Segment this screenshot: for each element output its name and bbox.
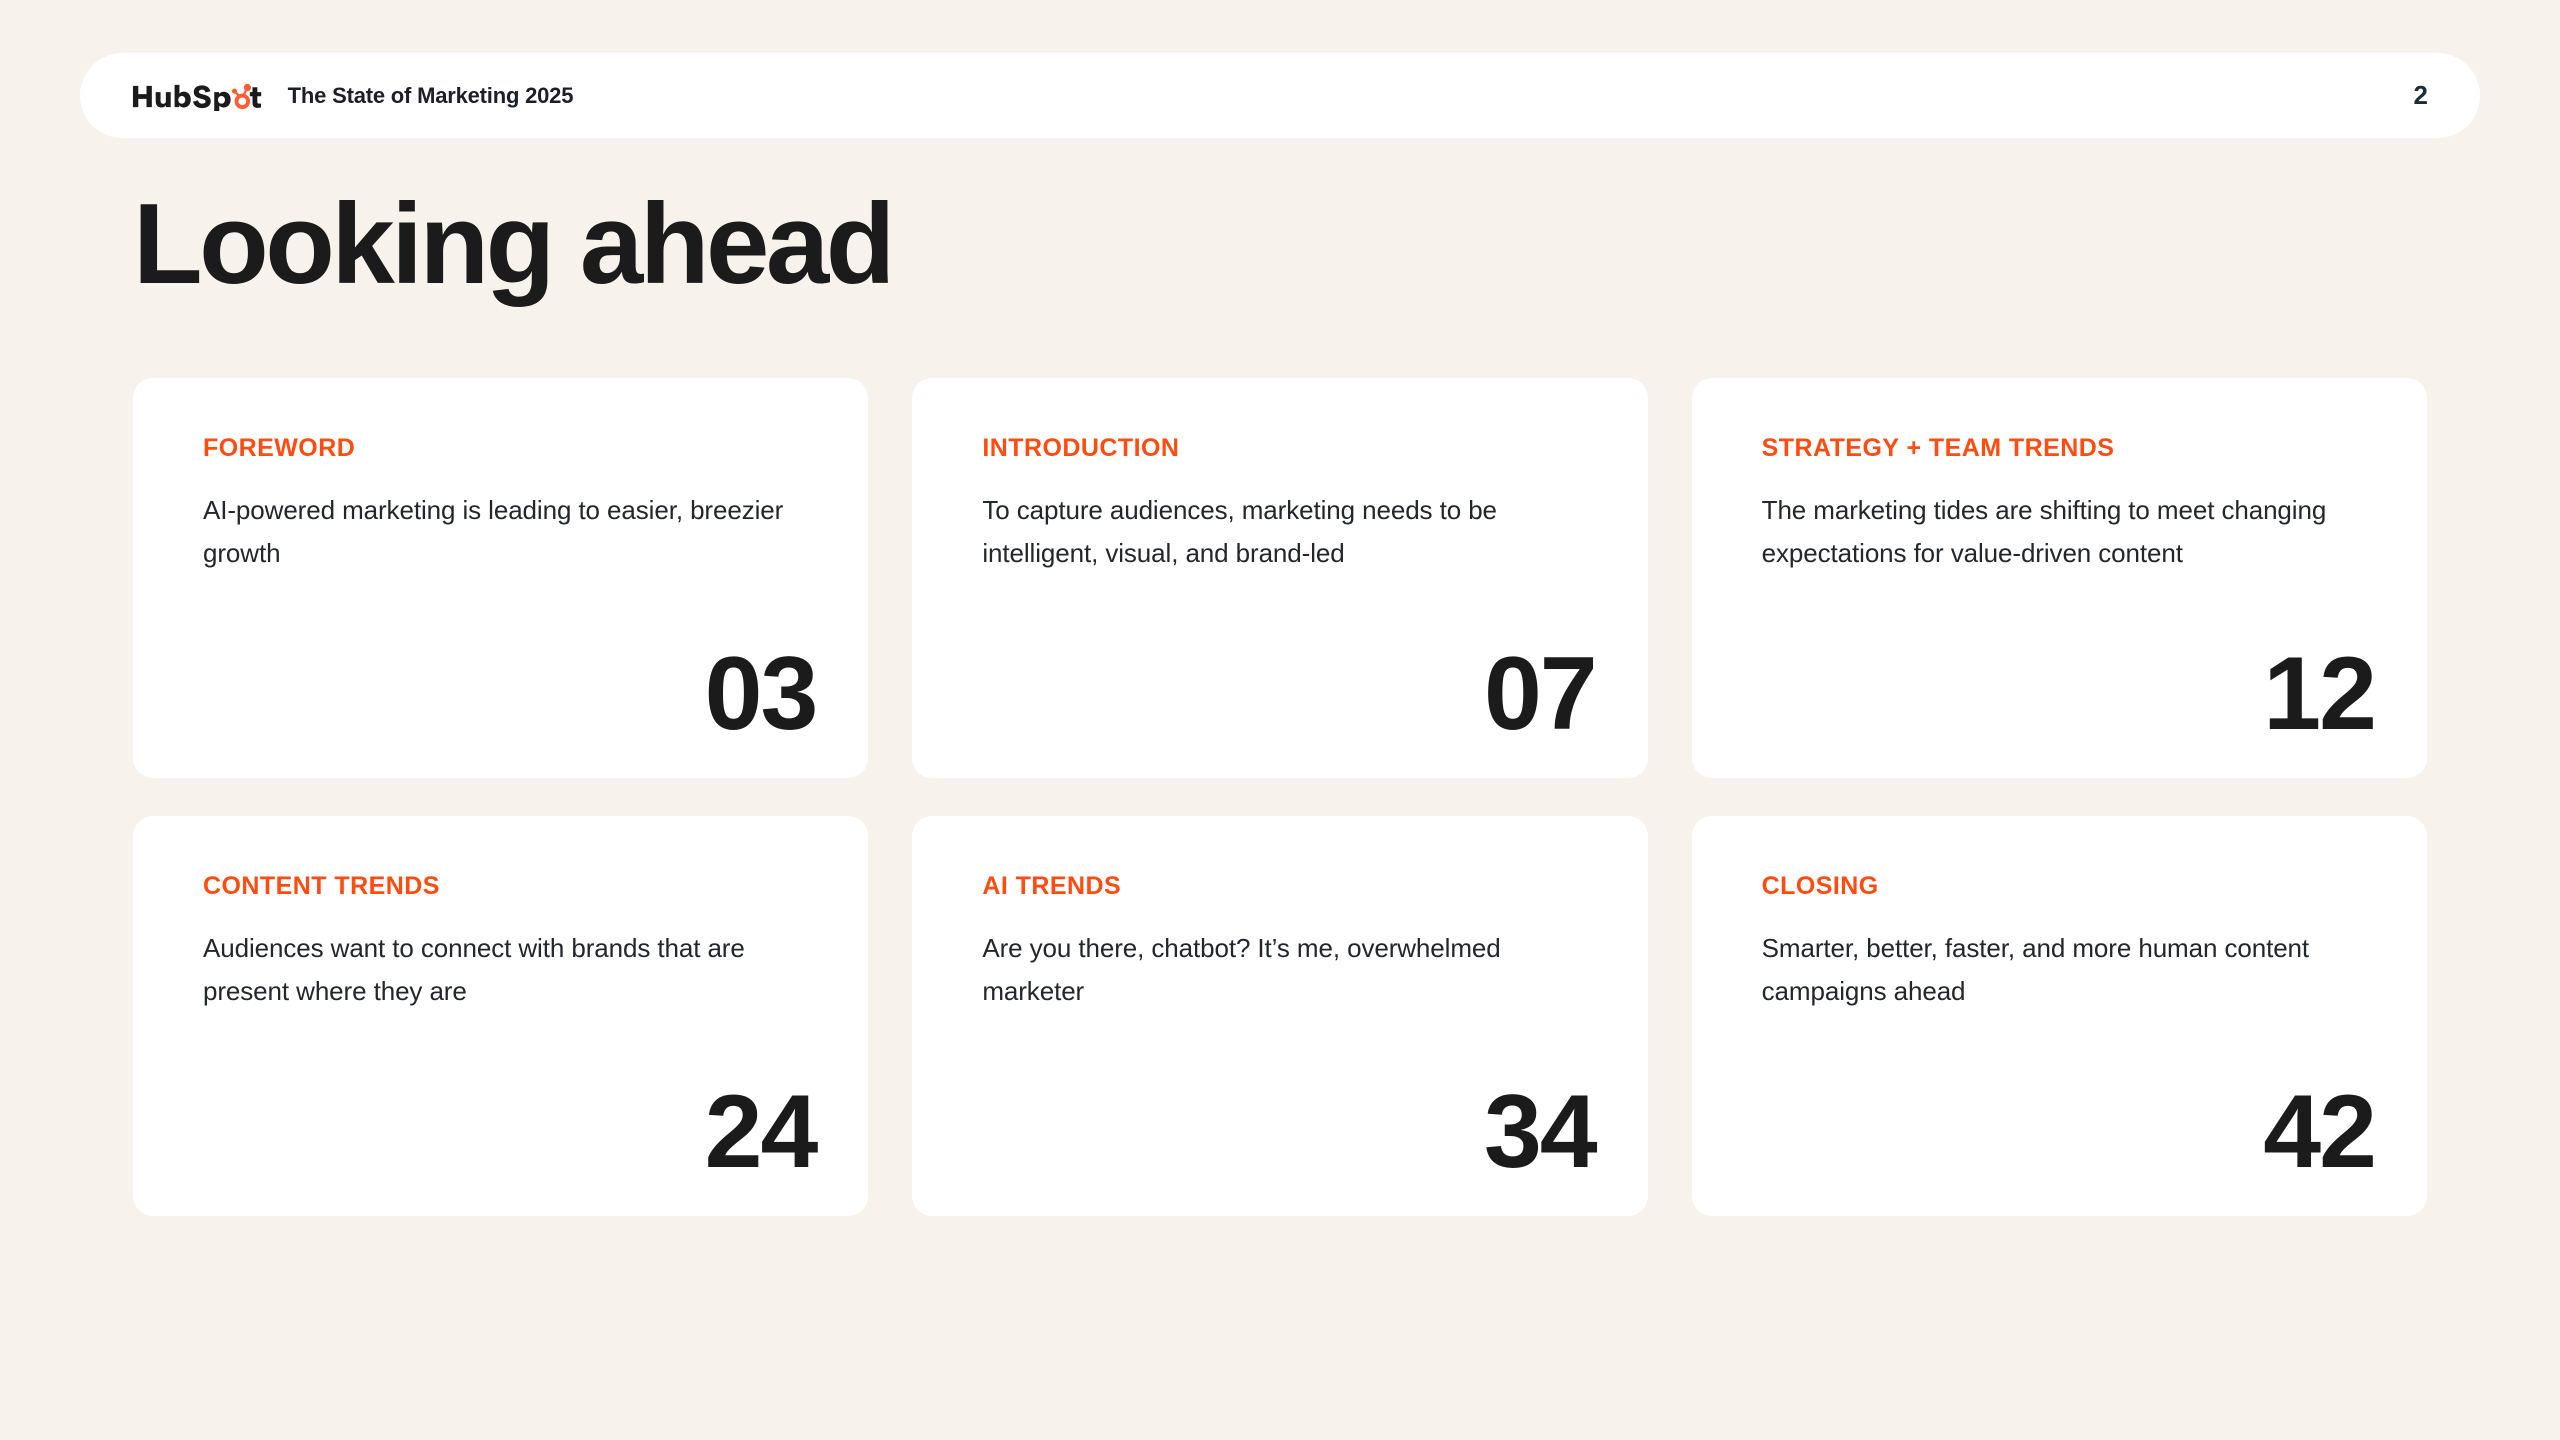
toc-card-strategy-team-trends[interactable]: STRATEGY + TEAM TRENDS The marketing tid…: [1692, 378, 2427, 778]
slide-page: The State of Marketing 2025 2 Looking ah…: [0, 0, 2560, 1440]
card-eyebrow: FOREWORD: [203, 434, 816, 463]
card-eyebrow: INTRODUCTION: [982, 434, 1595, 463]
card-description: Are you there, chatbot? It’s me, overwhe…: [982, 927, 1595, 1013]
card-page-number: 12: [2263, 642, 2375, 746]
toc-card-closing[interactable]: CLOSING Smarter, better, faster, and mor…: [1692, 816, 2427, 1216]
card-eyebrow: CLOSING: [1762, 872, 2375, 901]
card-description: The marketing tides are shifting to meet…: [1762, 489, 2375, 575]
document-title: The State of Marketing 2025: [288, 83, 574, 109]
card-description: To capture audiences, marketing needs to…: [982, 489, 1595, 575]
brand-group: The State of Marketing 2025: [132, 79, 573, 113]
card-description: Audiences want to connect with brands th…: [203, 927, 816, 1013]
page-number: 2: [2414, 80, 2428, 111]
card-page-number: 07: [1484, 642, 1596, 746]
card-eyebrow: CONTENT TRENDS: [203, 872, 816, 901]
card-page-number: 03: [705, 642, 817, 746]
toc-card-introduction[interactable]: INTRODUCTION To capture audiences, marke…: [912, 378, 1647, 778]
card-page-number: 34: [1484, 1080, 1596, 1184]
toc-card-ai-trends[interactable]: AI TRENDS Are you there, chatbot? It’s m…: [912, 816, 1647, 1216]
card-description: AI-powered marketing is leading to easie…: [203, 489, 816, 575]
hubspot-logo: [132, 79, 262, 113]
card-page-number: 24: [705, 1080, 817, 1184]
toc-card-foreword[interactable]: FOREWORD AI-powered marketing is leading…: [133, 378, 868, 778]
card-description: Smarter, better, faster, and more human …: [1762, 927, 2375, 1013]
card-eyebrow: AI TRENDS: [982, 872, 1595, 901]
card-page-number: 42: [2263, 1080, 2375, 1184]
page-title: Looking ahead: [133, 188, 892, 302]
toc-card-content-trends[interactable]: CONTENT TRENDS Audiences want to connect…: [133, 816, 868, 1216]
card-eyebrow: STRATEGY + TEAM TRENDS: [1762, 434, 2375, 463]
header-bar: The State of Marketing 2025 2: [80, 53, 2480, 138]
toc-card-grid: FOREWORD AI-powered marketing is leading…: [133, 378, 2427, 1216]
